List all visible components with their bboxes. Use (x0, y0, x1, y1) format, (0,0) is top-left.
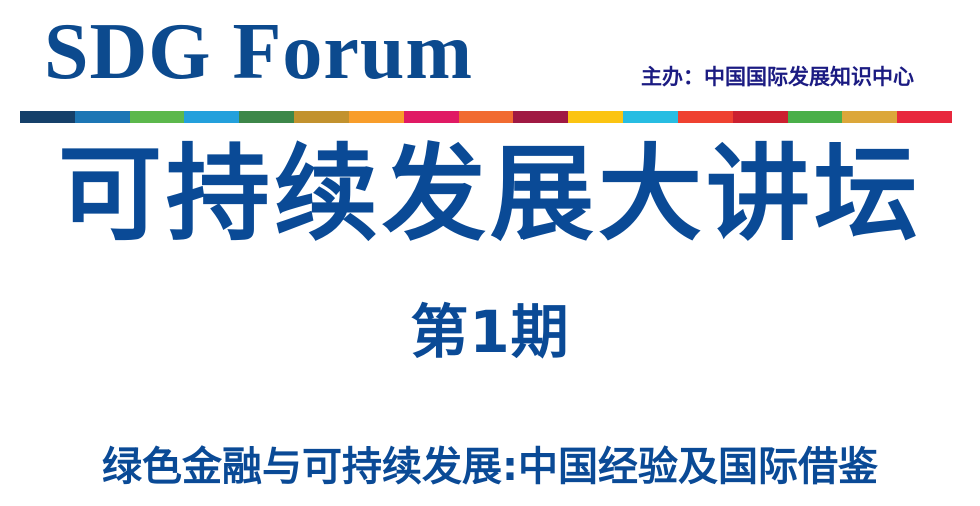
sdg-color-segment-3 (130, 111, 185, 123)
sdg-color-segment-17 (897, 111, 952, 123)
sdg-color-segment-11 (568, 111, 623, 123)
issue-number: 第1期 (0, 297, 980, 367)
sdg-color-segment-14 (733, 111, 788, 123)
brand-title: SDG Forum (44, 8, 473, 96)
subject-line: 绿色金融与可持续发展:中国经验及国际借鉴 (0, 441, 980, 493)
sdg-color-segment-5 (239, 111, 294, 123)
sdg-color-segment-7 (349, 111, 404, 123)
sdg-color-segment-9 (459, 111, 514, 123)
sdg-color-segment-10 (513, 111, 568, 123)
main-title: 可持续发展大讲坛 (0, 136, 980, 252)
sdg-color-segment-16 (842, 111, 897, 123)
sdg-color-segment-6 (294, 111, 349, 123)
sdg-color-segment-12 (623, 111, 678, 123)
sdg-color-segment-13 (678, 111, 733, 123)
sdg-color-segment-15 (788, 111, 843, 123)
organizer-label: 主办：中国国际发展知识中心 (641, 64, 914, 90)
sdg-color-bar (20, 111, 952, 123)
poster-canvas: SDG Forum 主办：中国国际发展知识中心 可持续发展大讲坛 第1期 绿色金… (0, 0, 980, 506)
header-row: SDG Forum 主办：中国国际发展知识中心 (0, 0, 980, 104)
sdg-color-segment-2 (75, 111, 130, 123)
sdg-color-segment-1 (20, 111, 75, 123)
sdg-color-segment-4 (184, 111, 239, 123)
sdg-color-segment-8 (404, 111, 459, 123)
